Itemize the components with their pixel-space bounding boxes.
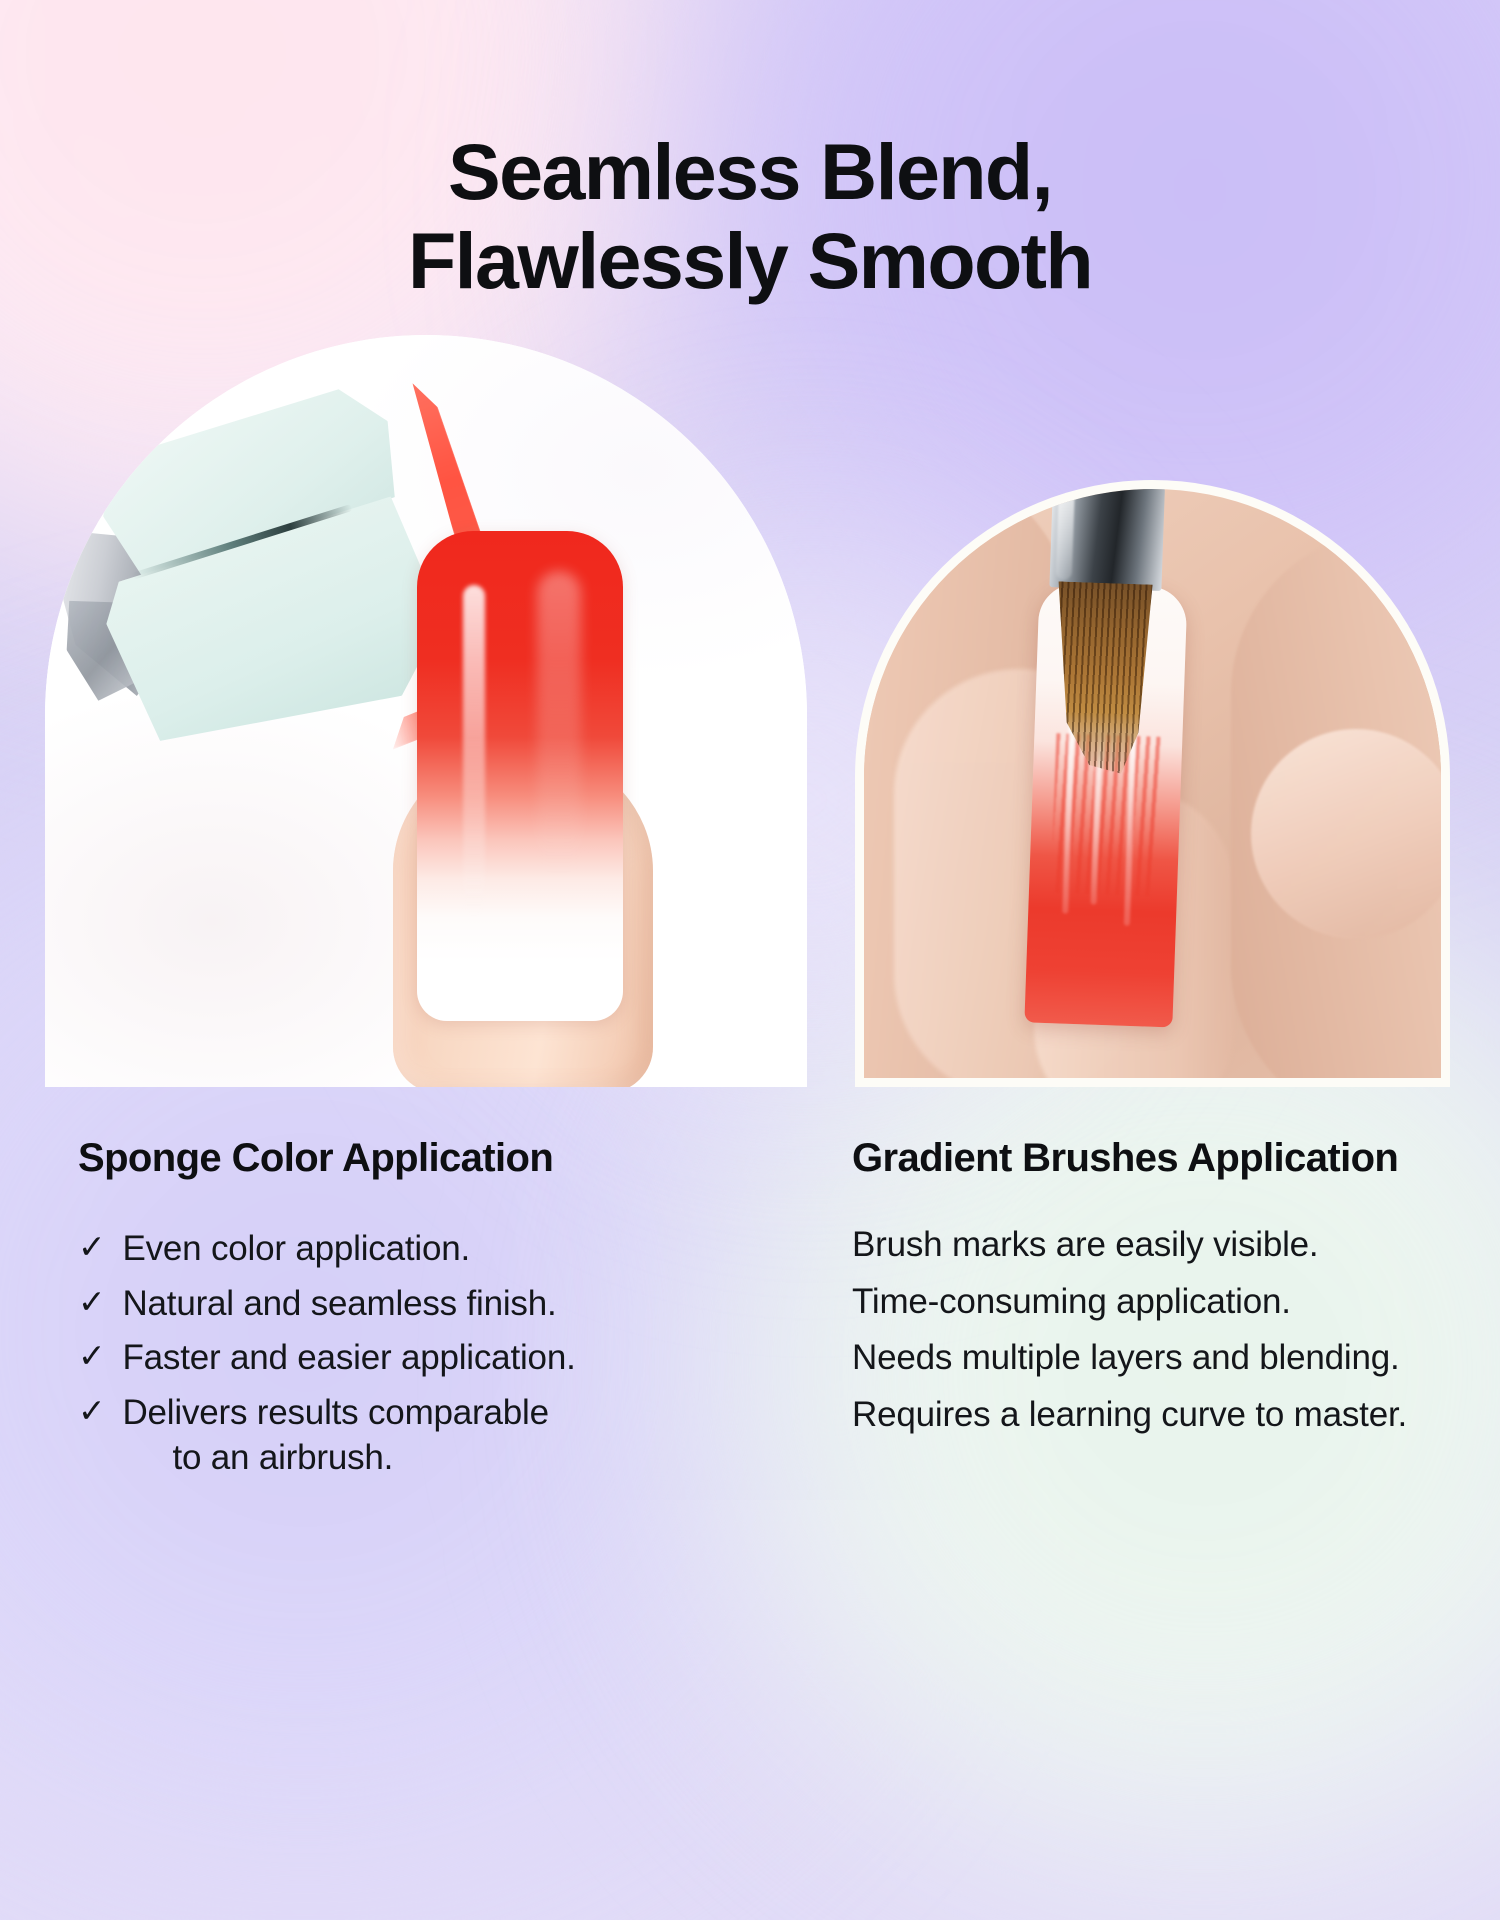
list-item-label: Delivers results comparable [122, 1393, 548, 1432]
list-item: Needs multiple layers and blending. [852, 1335, 1492, 1382]
brush-column-heading: Gradient Brushes Application [852, 1136, 1492, 1180]
list-item-label: Faster and easier application. [122, 1335, 778, 1381]
list-item: Time-consuming application. [852, 1279, 1492, 1326]
page-title: Seamless Blend, Flawlessly Smooth [0, 127, 1500, 306]
list-item: Requires a learning curve to master. [852, 1392, 1492, 1439]
list-item: ✓ Natural and seamless finish. [78, 1281, 778, 1327]
title-line-2: Flawlessly Smooth [0, 216, 1500, 305]
sponge-benefit-list: ✓ Even color application. ✓ Natural and … [78, 1226, 778, 1481]
list-item-label-continuation: to an airbrush. [122, 1435, 778, 1481]
sponge-column-heading: Sponge Color Application [78, 1136, 778, 1180]
nail-gloss-highlight-2 [537, 571, 581, 871]
title-line-1: Seamless Blend, [0, 127, 1500, 216]
panel-right-photo [864, 489, 1441, 1078]
list-item: Brush marks are easily visible. [852, 1222, 1492, 1269]
list-item: ✓ Even color application. [78, 1226, 778, 1272]
check-icon: ✓ [78, 1335, 105, 1378]
list-item-label: Natural and seamless finish. [122, 1281, 778, 1327]
gradient-brush [1035, 489, 1173, 775]
check-icon: ✓ [78, 1390, 105, 1433]
sponge-application-image-panel [45, 335, 807, 1087]
brush-application-image-panel [855, 480, 1450, 1087]
list-item-label: Even color application. [122, 1226, 778, 1272]
list-item: ✓ Delivers results comparable to an airb… [78, 1390, 778, 1481]
nail-gloss-highlight [463, 585, 485, 915]
brush-drawback-list: Brush marks are easily visible. Time-con… [852, 1222, 1492, 1438]
brush-bristle-strands [1049, 581, 1156, 774]
list-item: ✓ Faster and easier application. [78, 1335, 778, 1381]
ombre-nail-left [417, 531, 623, 1021]
sponge-application-text-column: Sponge Color Application ✓ Even color ap… [78, 1136, 778, 1490]
check-icon: ✓ [78, 1281, 105, 1324]
list-item-label-wrapper: Delivers results comparable to an airbru… [122, 1390, 778, 1481]
brush-ferrule-shine [1056, 489, 1075, 580]
check-icon: ✓ [78, 1226, 105, 1269]
brush-application-text-column: Gradient Brushes Application Brush marks… [852, 1136, 1492, 1448]
